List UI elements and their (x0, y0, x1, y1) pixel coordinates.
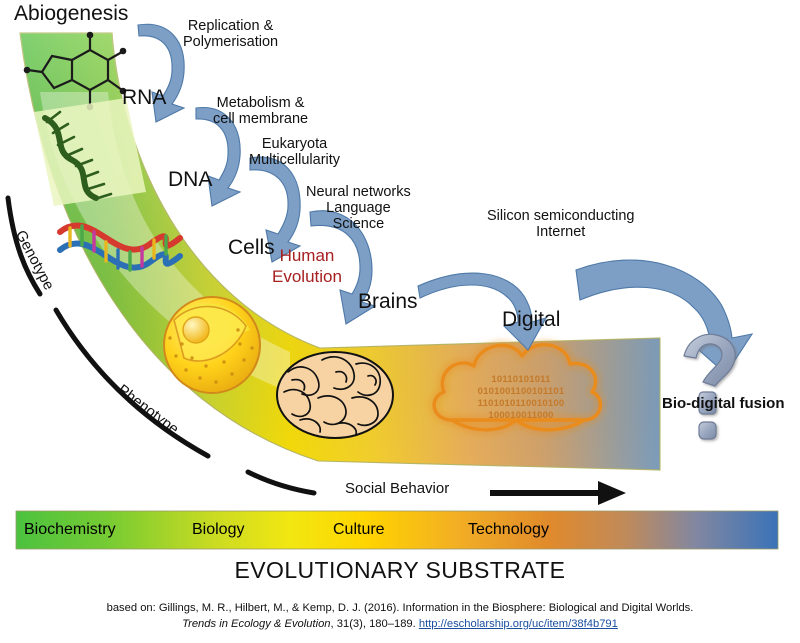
transition-line: Silicon semiconducting (487, 208, 635, 224)
cell-icon (164, 297, 260, 393)
human-evolution-line: Human (272, 245, 342, 266)
transition-label-replication: Replication & Polymerisation (183, 18, 278, 50)
transition-label-eukaryota: Eukaryota Multicellularity (249, 136, 340, 168)
citation-journal: Trends in Ecology & Evolution (182, 618, 330, 630)
stage-label-cells: Cells (228, 236, 275, 260)
bio-digital-fusion-label: Bio-digital fusion (662, 396, 784, 413)
transition-line: Science (306, 216, 411, 232)
transition-line: Neural networks (306, 184, 411, 200)
citation-line-2: Trends in Ecology & Evolution, 31(3), 18… (0, 618, 800, 631)
stage-label-digital: Digital (502, 308, 560, 332)
axis-label-social-behavior: Social Behavior (345, 481, 449, 498)
brain-icon (277, 352, 393, 438)
substrate-segment-biology: Biology (192, 521, 244, 539)
substrate-segment-biochemistry: Biochemistry (24, 521, 116, 539)
substrate-segment-technology: Technology (468, 521, 549, 539)
transition-line: Internet (487, 224, 635, 240)
citation: based on: Gillings, M. R., Hilbert, M., … (0, 602, 800, 630)
stage-label-abiogenesis: Abiogenesis (14, 2, 128, 26)
diagram-graphics (0, 0, 800, 643)
rna-helix-icon (34, 98, 146, 206)
transition-line: cell membrane (213, 111, 308, 127)
transition-line: Polymerisation (183, 34, 278, 50)
transition-line: Metabolism & (213, 95, 308, 111)
transition-label-neural-networks: Neural networks Language Science (306, 184, 411, 233)
transition-label-silicon: Silicon semiconducting Internet (487, 208, 635, 240)
citation-line-1: based on: Gillings, M. R., Hilbert, M., … (0, 602, 800, 615)
human-evolution-label: Human Evolution (272, 245, 342, 288)
transition-line: Replication & (183, 18, 278, 34)
diagram-canvas: Abiogenesis RNA DNA Cells Brains Digital… (0, 0, 800, 643)
substrate-title: EVOLUTIONARY SUBSTRATE (0, 558, 800, 584)
stage-label-rna: RNA (122, 86, 166, 110)
social-behavior-arrow (490, 481, 626, 505)
citation-details: , 31(3), 180–189. (331, 618, 419, 630)
binary-data-text: 10110101011 0101001100101101 11010101100… (456, 374, 586, 422)
stage-label-dna: DNA (168, 168, 212, 192)
substrate-segment-culture: Culture (333, 521, 385, 539)
stage-label-brains: Brains (358, 290, 418, 314)
transition-line: Multicellularity (249, 152, 340, 168)
citation-link[interactable]: http://escholarship.org/uc/item/38f4b791 (419, 618, 618, 630)
binary-line: 10110101011 (456, 374, 586, 386)
transition-label-metabolism: Metabolism & cell membrane (213, 95, 308, 127)
human-evolution-line: Evolution (272, 266, 342, 287)
binary-line: 1101010110010100 (456, 398, 586, 410)
transition-line: Eukaryota (249, 136, 340, 152)
binary-line: 0101001100101101 (456, 386, 586, 398)
substrate-gradient-bar (16, 511, 778, 549)
transition-line: Language (306, 200, 411, 216)
binary-line: 100010011000 (456, 410, 586, 422)
